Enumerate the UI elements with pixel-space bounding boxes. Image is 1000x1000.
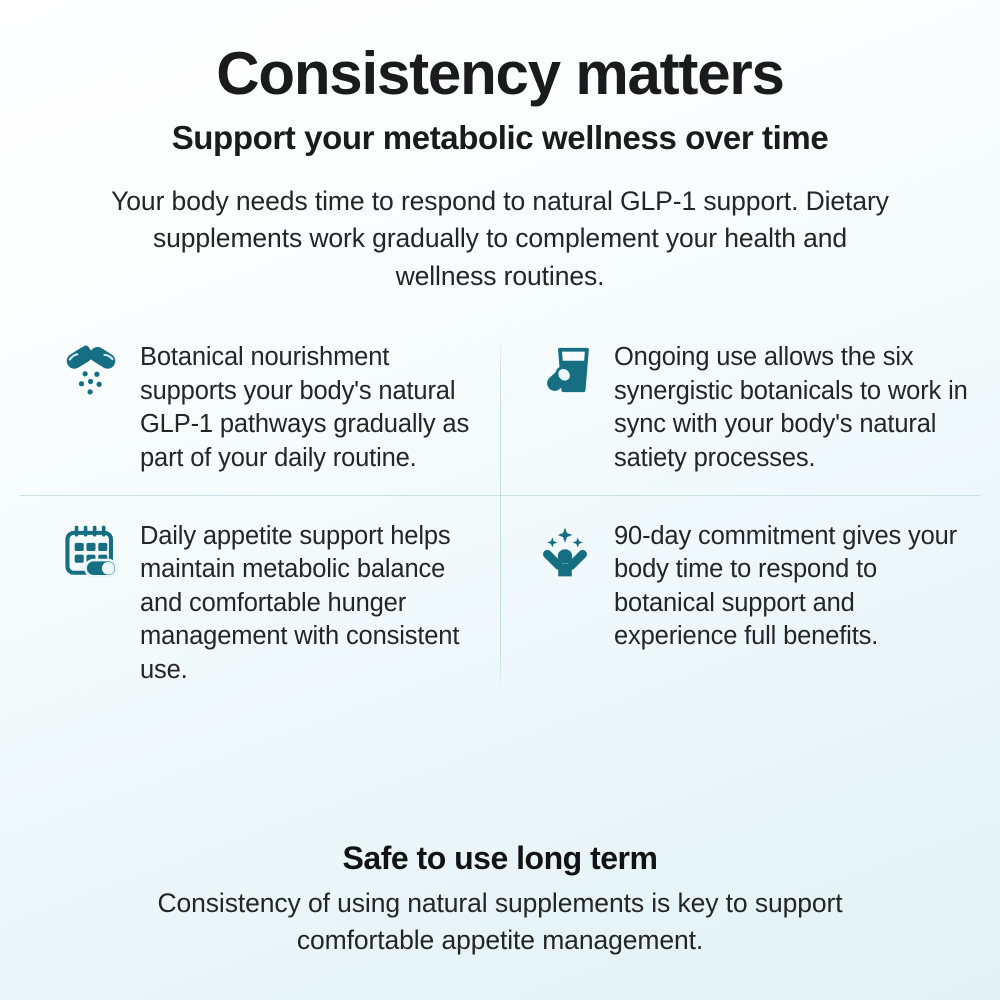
footer-section: Safe to use long term Consistency of usi… bbox=[70, 840, 930, 1000]
page-title: Consistency matters bbox=[0, 42, 1000, 106]
water-glass-pill-icon bbox=[534, 339, 596, 405]
benefit-card-3: Daily appetite support helps maintain me… bbox=[20, 495, 500, 707]
benefit-card-1-text: Botanical nourishment supports your body… bbox=[140, 339, 478, 475]
footer-title: Safe to use long term bbox=[70, 840, 930, 877]
calendar-pill-icon bbox=[60, 518, 122, 584]
person-celebrating-sparkles-icon bbox=[534, 518, 596, 584]
infographic-canvas: Consistency matters Support your metabol… bbox=[0, 0, 1000, 1000]
page-subtitle: Support your metabolic wellness over tim… bbox=[0, 120, 1000, 157]
benefit-card-4-text: 90-day commitment gives your body time t… bbox=[614, 518, 970, 654]
benefit-card-3-text: Daily appetite support helps maintain me… bbox=[140, 518, 478, 687]
intro-paragraph: Your body needs time to respond to natur… bbox=[105, 183, 895, 296]
header-section: Consistency matters Support your metabol… bbox=[0, 0, 1000, 295]
benefit-card-2: Ongoing use allows the six synergistic b… bbox=[500, 325, 980, 495]
footer-text: Consistency of using natural supplements… bbox=[70, 885, 930, 960]
benefit-card-4: 90-day commitment gives your body time t… bbox=[500, 495, 980, 707]
benefit-card-2-text: Ongoing use allows the six synergistic b… bbox=[614, 339, 970, 475]
benefits-grid: Botanical nourishment supports your body… bbox=[20, 325, 980, 707]
open-capsule-granules-icon bbox=[60, 339, 122, 405]
benefit-card-1: Botanical nourishment supports your body… bbox=[20, 325, 500, 495]
